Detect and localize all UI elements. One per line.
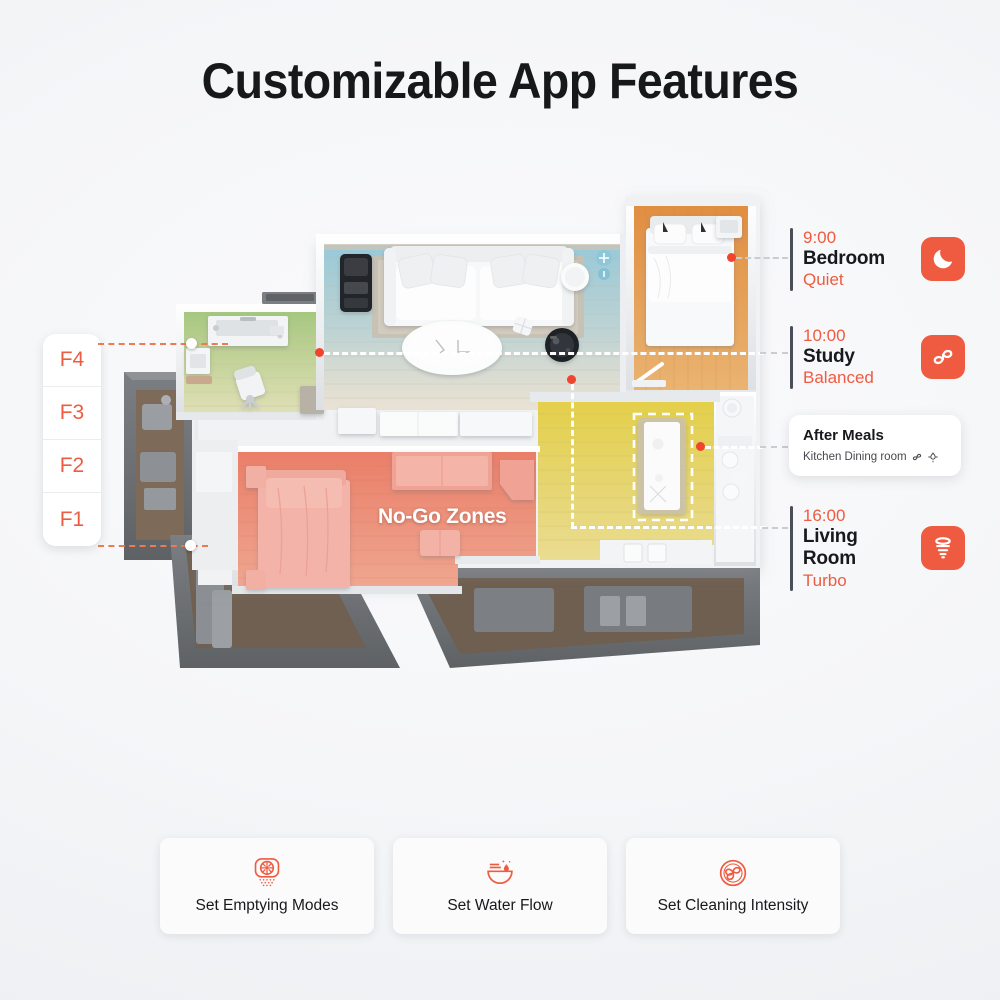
study-desk [208,316,288,346]
schedule-accent-bar [790,506,793,591]
coffee-table [402,321,502,375]
connector-study-outer [760,352,788,354]
connector-kitchen-outer [760,446,788,448]
connector-living-horizontal [571,526,766,529]
moon-icon[interactable] [921,237,965,281]
marker-dot-living [567,375,576,384]
no-go-zones-label: No-Go Zones [378,505,507,529]
connector-living-outer [762,527,788,529]
schedule-text: 16:00 Living Room Turbo [803,506,911,591]
after-meals-rooms-row: Kitchen Dining room [803,451,947,463]
after-meals-title: After Meals [803,427,947,444]
marker-dot-study [315,348,324,357]
connector-bedroom [736,257,788,259]
feature-card-emptying-modes[interactable]: Set Emptying Modes [160,838,374,934]
water-bowl-icon [483,857,517,890]
schedule-accent-bar [790,228,793,291]
floor-guide-f1-dot [185,540,196,551]
floor-guide-f4 [98,343,228,345]
water-drop-icon [927,451,939,463]
mid-cabinets [338,408,532,436]
schedule-room: Living Room [803,526,911,571]
schedule-room: Study [803,346,874,368]
swirl-icon [911,451,923,463]
hall-sliver [192,440,238,570]
feature-card-row: Set Emptying Modes Set Water Flow [0,838,1000,934]
floor-button-f1[interactable]: F1 [43,493,101,546]
feature-label: Set Emptying Modes [195,897,338,915]
feature-label: Set Water Flow [447,897,552,915]
schedule-time: 16:00 [803,506,911,526]
zone-living-room[interactable] [316,234,628,410]
marker-dot-bedroom [727,253,736,262]
marker-dot-kitchen [696,442,705,451]
schedule-text: 10:00 Study Balanced [803,326,874,389]
robot-vacuum[interactable] [545,328,579,362]
schedule-mode: Quiet [803,270,885,290]
schedule-item-study[interactable]: 10:00 Study Balanced [790,326,965,389]
schedule-room: Bedroom [803,248,885,270]
connector-living-vertical [571,384,574,528]
schedule-time: 9:00 [803,228,885,248]
no-go-bed [246,466,350,590]
after-meals-rooms: Kitchen Dining room [803,451,907,463]
dining-table [638,418,686,514]
schedule-mode: Turbo [803,571,911,591]
swirl-icon[interactable] [921,335,965,379]
zone-study[interactable] [176,292,324,420]
tornado-icon[interactable] [921,526,965,570]
floor-button-f2[interactable]: F2 [43,440,101,493]
dock-station [340,254,372,312]
suction-fan-icon [716,857,750,890]
zone-bedroom[interactable] [626,196,756,398]
schedule-text: 9:00 Bedroom Quiet [803,228,885,291]
side-table [561,263,589,291]
feature-card-water-flow[interactable]: Set Water Flow [393,838,607,934]
floor-guide-f4-dot [186,338,197,349]
floor-button-f3[interactable]: F3 [43,387,101,440]
zone-kitchen-dining[interactable] [530,392,756,566]
feature-card-cleaning-intensity[interactable]: Set Cleaning Intensity [626,838,840,934]
floor-button-f4[interactable]: F4 [43,334,101,387]
after-meals-card[interactable]: After Meals Kitchen Dining room [789,415,961,476]
nightstand [716,216,742,238]
feature-label: Set Cleaning Intensity [658,897,809,915]
emptying-fan-icon [250,857,284,890]
schedule-mode: Balanced [803,368,874,388]
connector-kitchen-inner [705,446,763,449]
connector-study-inner [324,352,764,355]
schedule-item-bedroom[interactable]: 9:00 Bedroom Quiet [790,228,965,291]
schedule-item-living-room[interactable]: 16:00 Living Room Turbo [790,506,965,591]
schedule-accent-bar [790,326,793,389]
schedule-time: 10:00 [803,326,874,346]
floor-selector[interactable]: F4 F3 F2 F1 [43,334,101,546]
sofa [384,246,574,326]
